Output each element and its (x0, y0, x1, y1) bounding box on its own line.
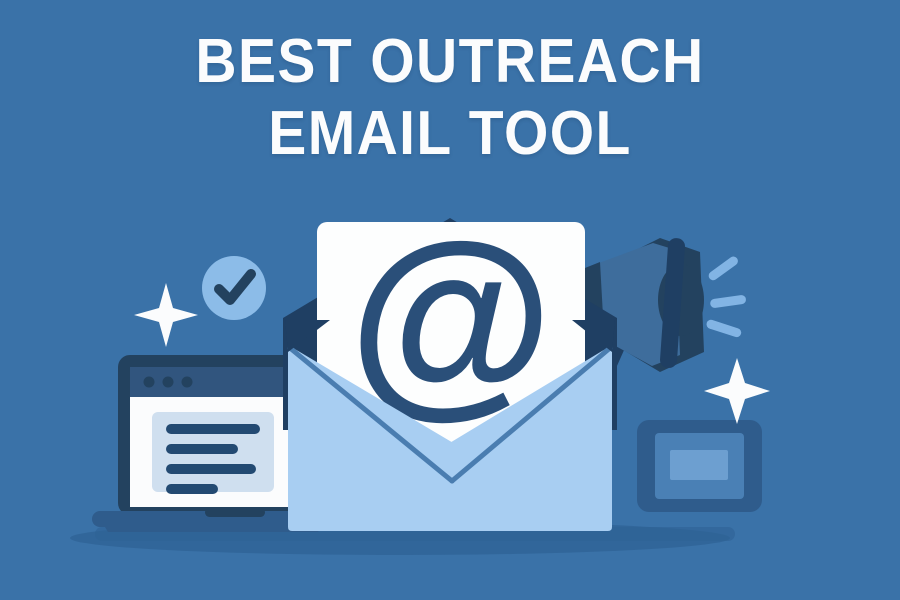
poster-canvas: @ BEST OUTREACH EMAIL TOOL (0, 0, 900, 600)
laptop-window-dot (144, 377, 155, 388)
title-line-1: BEST OUTREACH (36, 26, 864, 98)
poster-title: BEST OUTREACH EMAIL TOOL (0, 26, 900, 170)
laptop-text-line (166, 444, 238, 454)
screen-device-bar (670, 450, 728, 480)
check-badge (202, 256, 266, 320)
laptop-titlebar (130, 367, 296, 397)
megaphone-wave-line (705, 319, 742, 339)
title-line-2: EMAIL TOOL (36, 98, 864, 170)
laptop-text-line (166, 424, 260, 434)
sparkle-icon (134, 283, 198, 347)
laptop-window-dot (163, 377, 174, 388)
laptop-hinge (205, 508, 265, 517)
laptop-window-dot (182, 377, 193, 388)
screen-device (637, 420, 762, 512)
laptop-text-line (166, 484, 218, 494)
laptop-text-line (166, 464, 256, 474)
megaphone-wave-line (710, 295, 747, 309)
megaphone-wave-line (707, 255, 740, 282)
sparkle-icon (704, 358, 770, 424)
